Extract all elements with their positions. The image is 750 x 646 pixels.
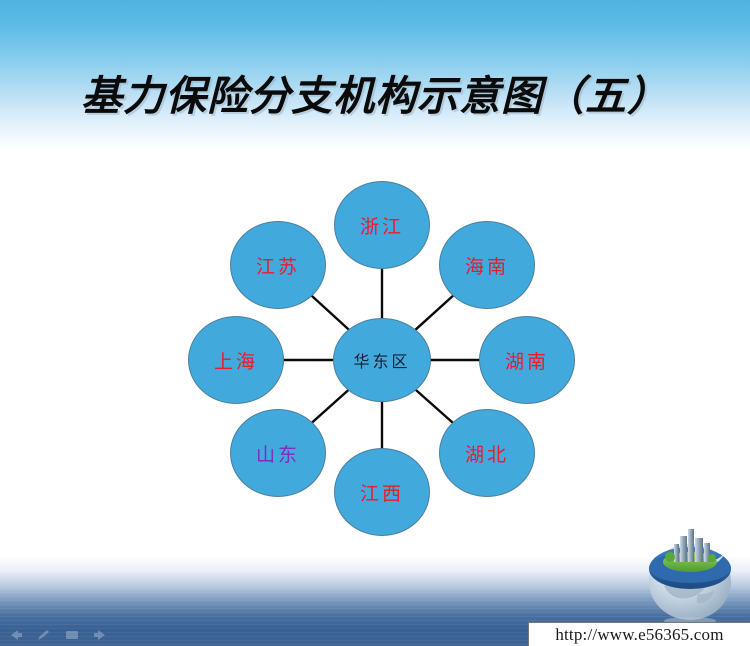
branch-node-label: 海南	[465, 252, 509, 279]
branch-node-label: 上海	[214, 347, 258, 374]
branch-node-label: 江苏	[256, 252, 300, 279]
next-slide-button[interactable]	[92, 628, 108, 642]
branch-node-8[interactable]: 江苏	[230, 221, 326, 309]
branch-node-7[interactable]: 上海	[188, 316, 284, 404]
watermark-url-box: http://www.e56365.com	[528, 622, 750, 646]
org-hub-spoke-diagram: 华东区 浙江海南湖南湖北江西山东上海江苏	[180, 160, 580, 520]
hub-node-huadongqu[interactable]: 华东区	[333, 318, 431, 402]
slide-menu-button[interactable]	[64, 628, 80, 642]
connector-line-2	[415, 295, 454, 330]
branch-node-label: 山东	[256, 440, 300, 467]
watermark-url-text: http://www.e56365.com	[555, 625, 723, 645]
previous-slide-button[interactable]	[8, 628, 24, 642]
branch-node-6[interactable]: 山东	[230, 409, 326, 497]
connector-line-6	[312, 390, 349, 423]
branch-node-1[interactable]: 浙江	[334, 181, 430, 269]
connector-line-4	[415, 390, 453, 424]
earth-city-globe-icon	[634, 524, 746, 628]
presentation-slide: 基力保险分支机构示意图（五） 华东区 浙江海南湖南湖北江西山东上海江苏	[0, 0, 750, 646]
slideshow-control-bar[interactable]	[8, 628, 108, 642]
branch-node-3[interactable]: 湖南	[479, 316, 575, 404]
branch-node-label: 湖南	[505, 347, 549, 374]
branch-node-2[interactable]: 海南	[439, 221, 535, 309]
branch-node-5[interactable]: 江西	[334, 448, 430, 536]
branch-node-label: 江西	[360, 479, 404, 506]
slide-title: 基力保险分支机构示意图（五）	[0, 62, 750, 122]
pen-tool-button[interactable]	[36, 628, 52, 642]
branch-node-label: 浙江	[360, 212, 404, 239]
branch-node-4[interactable]: 湖北	[439, 409, 535, 497]
branch-node-label: 湖北	[465, 440, 509, 467]
hub-node-label: 华东区	[353, 348, 410, 372]
connector-line-8	[311, 295, 349, 330]
